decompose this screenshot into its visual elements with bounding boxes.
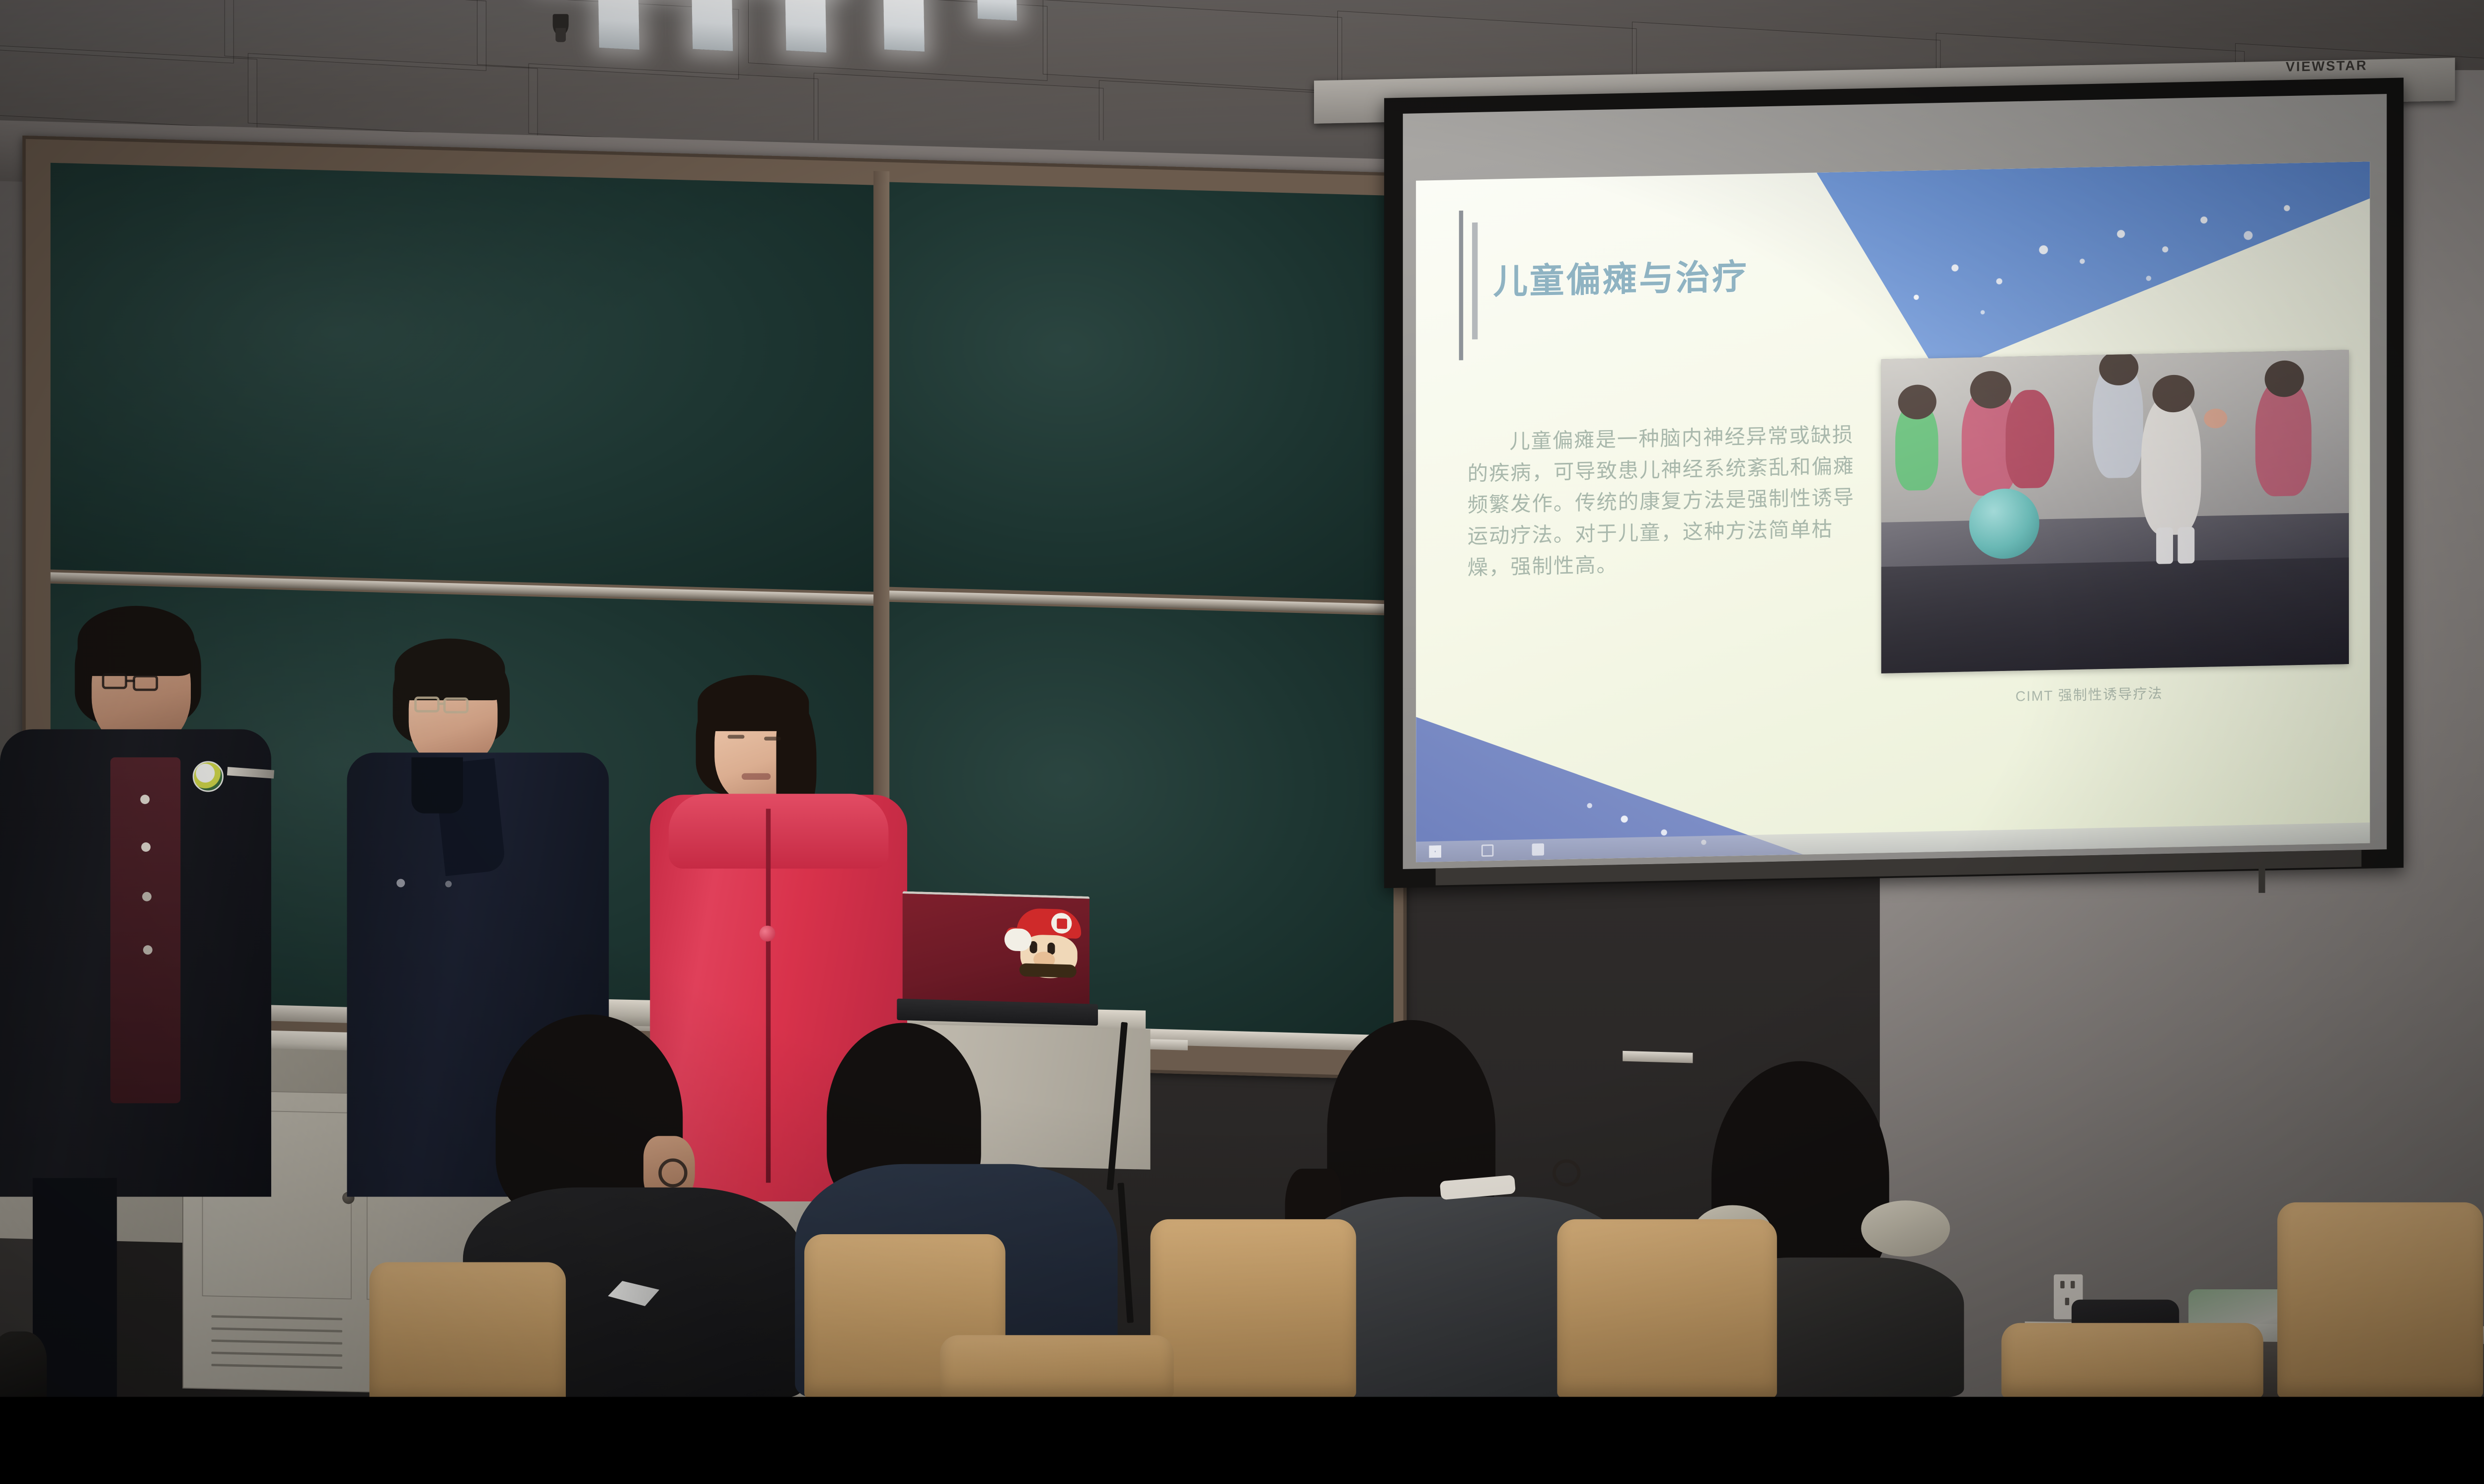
lapel-badge [193, 761, 224, 792]
title-accent-bar [1459, 211, 1463, 360]
chair[interactable] [1557, 1219, 1777, 1397]
eraser [1623, 1051, 1693, 1063]
chair[interactable] [1151, 1219, 1356, 1397]
fur-collar [1861, 1200, 1950, 1257]
slide-photo [1881, 350, 2349, 673]
mario-sticker [1008, 908, 1089, 992]
classroom-presentation-scene: VIEWSTAR 儿童偏瘫与治疗 儿童偏瘫是一种脑内神经异常或缺损的疾病，可导致… [0, 0, 2484, 1397]
chair[interactable] [2277, 1202, 2483, 1397]
projector-brand-label: VIEWSTAR [2286, 58, 2368, 75]
ceiling-light [692, 0, 733, 51]
jacket-hood [669, 794, 888, 869]
audience-member-partial [0, 1332, 47, 1397]
file-explorer-icon[interactable] [1481, 844, 1493, 857]
presenter-shirt [110, 757, 180, 1104]
slide-sky-graphic [1817, 161, 2370, 377]
ceiling-light [977, 0, 1017, 21]
slide-photo-caption: CIMT 强制性诱导疗法 [2016, 682, 2163, 705]
ceiling-light [785, 0, 826, 53]
ceiling-light [598, 0, 639, 50]
chair[interactable] [940, 1335, 1174, 1397]
powerpoint-icon[interactable] [1532, 843, 1544, 856]
jacket-zipper [766, 809, 771, 1183]
title-accent-bar-2 [1472, 223, 1477, 340]
slide-body-text: 儿童偏瘫是一种脑内神经异常或缺损的疾病，可导致患儿神经系统紊乱和偏瘫频繁发作。传… [1468, 419, 1870, 584]
chair[interactable] [370, 1262, 566, 1397]
presentation-slide: 儿童偏瘫与治疗 儿童偏瘫是一种脑内神经异常或缺损的疾病，可导致患儿神经系统紊乱和… [1416, 161, 2370, 862]
chair[interactable] [2002, 1323, 2263, 1397]
glasses [1552, 1159, 1580, 1187]
windows-start-icon[interactable] [1429, 845, 1441, 858]
slide-title: 儿童偏瘫与治疗 [1493, 249, 1748, 304]
glasses [658, 1158, 687, 1187]
sprinkler-head [553, 14, 569, 35]
ceiling-light [883, 0, 925, 52]
screen-pull-handle [2258, 853, 2265, 893]
